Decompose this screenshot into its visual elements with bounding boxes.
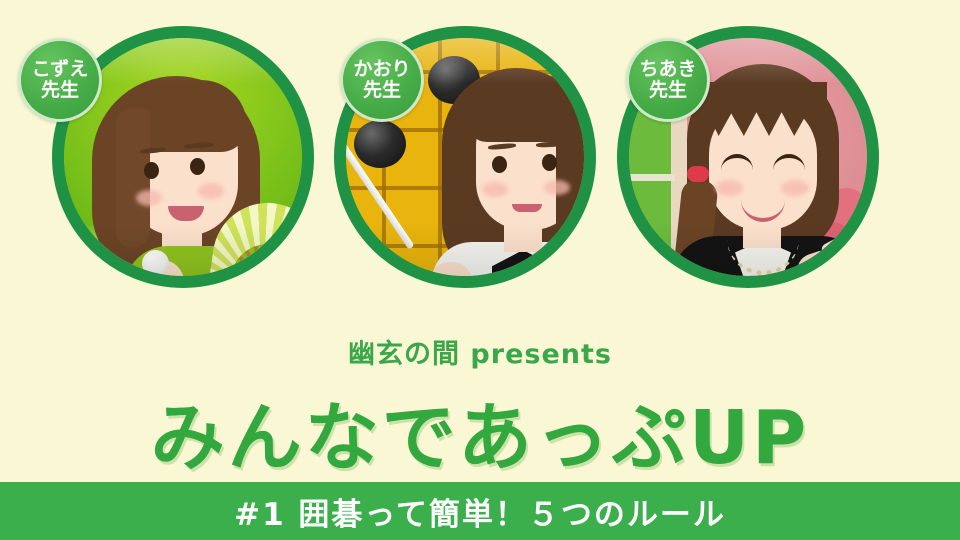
- panel-line: [629, 174, 675, 181]
- badge-honorific: 先生: [649, 81, 687, 100]
- cheek-left: [715, 180, 743, 196]
- cheek-right: [198, 183, 224, 199]
- presents-line: 幽玄の間 presents: [0, 332, 960, 371]
- neck: [504, 224, 542, 252]
- eye-right: [190, 158, 205, 175]
- neck: [743, 224, 781, 248]
- eye-left: [144, 162, 159, 179]
- badge-name: かおり: [353, 60, 410, 79]
- name-badge-chiaki: ちあき 先生: [626, 38, 710, 122]
- mouth: [512, 204, 542, 212]
- badge-honorific: 先生: [41, 81, 79, 100]
- title-card: こずえ 先生 かおり 先生 ちあき 先生 幽玄の間 presents みんなであ…: [0, 0, 960, 540]
- cheek-right: [781, 180, 809, 196]
- white-go-stone: [142, 250, 169, 276]
- badge-honorific: 先生: [363, 81, 401, 100]
- cheek-left: [482, 182, 508, 197]
- name-badge-kaori: かおり 先生: [340, 38, 424, 122]
- badge-name: ちあき: [639, 60, 696, 79]
- eye-right: [542, 154, 557, 171]
- black-go-stone: [354, 120, 406, 168]
- eye-left: [492, 156, 507, 173]
- green-panel: [629, 108, 675, 276]
- cheek-left: [136, 190, 162, 206]
- episode-bar: #1 囲碁って簡単！５つのルール: [0, 482, 960, 540]
- badge-name: こずえ: [32, 60, 89, 79]
- hair-tie: [687, 166, 709, 182]
- hair-strand-right: [556, 100, 584, 250]
- program-title: みんなであっぷUP: [0, 378, 960, 485]
- cheek-right: [544, 180, 570, 195]
- name-badge-kozue: こずえ 先生: [18, 38, 102, 122]
- episode-subtitle: #1 囲碁って簡単！５つのルール: [0, 482, 960, 540]
- hair-side-strand: [116, 108, 150, 248]
